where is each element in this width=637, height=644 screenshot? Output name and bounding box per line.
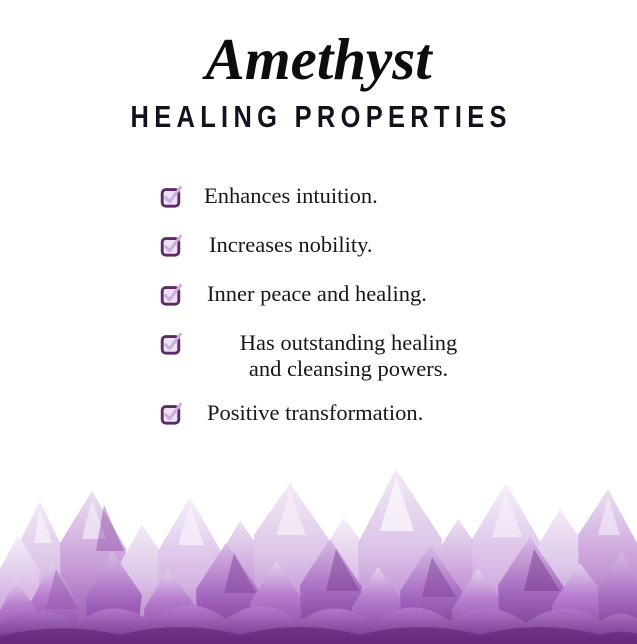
- poster-canvas: Amethyst HEALING PROPERTIES Enhances int…: [0, 0, 637, 644]
- list-item: Enhances intuition.: [0, 183, 637, 209]
- checkbox-slot: [0, 330, 182, 355]
- list-item: Has outstanding healing and cleansing po…: [0, 330, 637, 382]
- checkbox-slot: [0, 183, 182, 208]
- list-item: Positive transformation.: [0, 400, 637, 426]
- checkbox-checked-icon: [160, 333, 182, 355]
- list-item-label: Enhances intuition.: [182, 183, 637, 209]
- list-item: Increases nobility.: [0, 232, 637, 258]
- poster-header: Amethyst HEALING PROPERTIES: [0, 0, 637, 132]
- checkbox-checked-icon: [160, 235, 182, 257]
- list-item-label: Has outstanding healing and cleansing po…: [182, 330, 637, 382]
- checkbox-slot: [0, 281, 182, 306]
- checkbox-checked-icon: [160, 284, 182, 306]
- list-item-label: Inner peace and healing.: [182, 281, 637, 307]
- healing-properties-list: Enhances intuition. Increases nobility.: [0, 183, 637, 450]
- checkbox-checked-icon: [160, 186, 182, 208]
- checkbox-slot: [0, 232, 182, 257]
- amethyst-crystal-cluster-image: [0, 439, 637, 644]
- list-item: Inner peace and healing.: [0, 281, 637, 307]
- list-item-label: Positive transformation.: [182, 400, 637, 426]
- page-title: Amethyst: [0, 30, 637, 89]
- page-subtitle: HEALING PROPERTIES: [57, 101, 579, 132]
- checkbox-checked-icon: [160, 403, 182, 425]
- list-item-label: Increases nobility.: [182, 232, 637, 258]
- checkbox-slot: [0, 400, 182, 425]
